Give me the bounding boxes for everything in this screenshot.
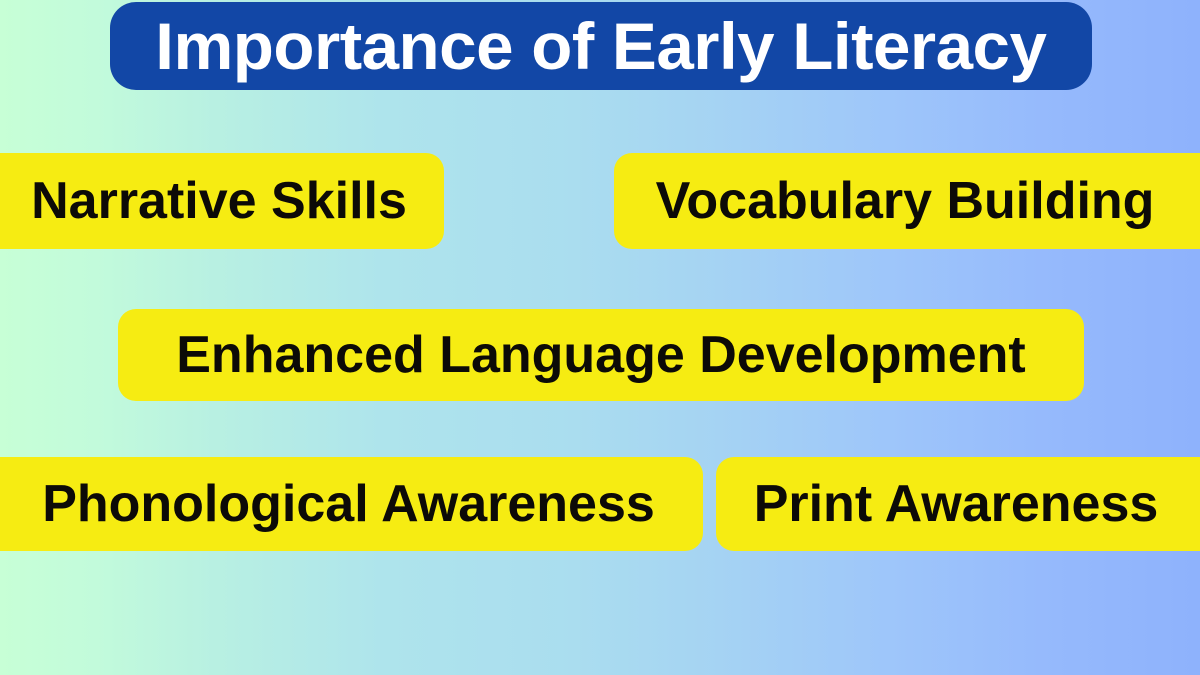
item-pill-narrative-skills[interactable]: Narrative Skills <box>0 153 444 249</box>
infographic-canvas: Importance of Early Literacy Narrative S… <box>0 0 1200 675</box>
item-pill-print-awareness[interactable]: Print Awareness <box>716 457 1200 551</box>
item-label-vocabulary-building: Vocabulary Building <box>656 175 1183 227</box>
page-title-pill: Importance of Early Literacy <box>110 2 1092 90</box>
item-pill-phonological-awareness[interactable]: Phonological Awareness <box>0 457 703 551</box>
item-pill-enhanced-language-development[interactable]: Enhanced Language Development <box>118 309 1084 401</box>
empty-bottom-area <box>0 560 1200 675</box>
item-label-narrative-skills: Narrative Skills <box>13 175 407 227</box>
item-label-print-awareness: Print Awareness <box>754 478 1187 530</box>
item-label-enhanced-language-development: Enhanced Language Development <box>176 329 1026 381</box>
item-label-phonological-awareness: Phonological Awareness <box>22 478 655 530</box>
item-pill-vocabulary-building[interactable]: Vocabulary Building <box>614 153 1200 249</box>
page-title: Importance of Early Literacy <box>155 13 1046 79</box>
